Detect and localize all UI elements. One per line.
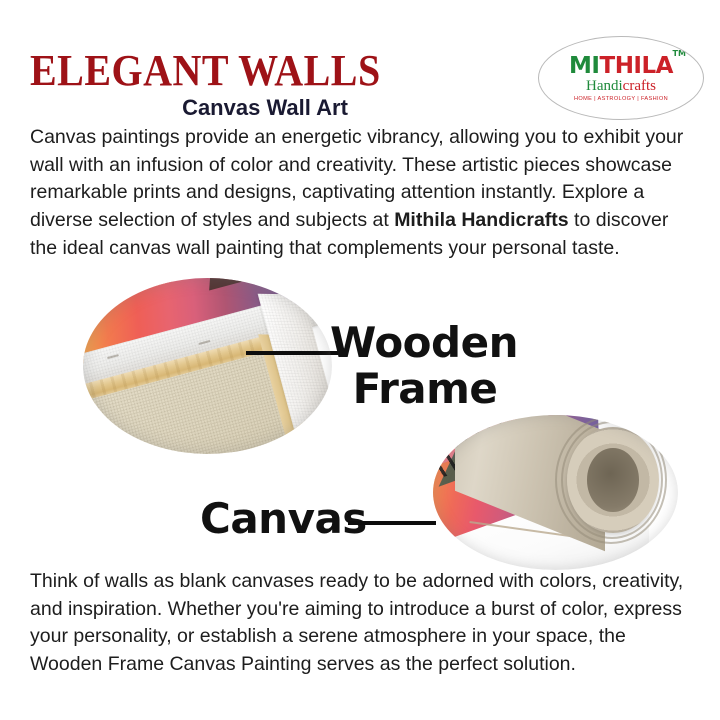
canvas-roll-photo xyxy=(433,415,678,570)
leader-line-canvas xyxy=(348,521,436,525)
wooden-frame-photo xyxy=(83,278,332,454)
logo-word-part-3: HILA xyxy=(615,53,673,79)
infographic-page: ELEGANT WALLS Canvas Wall Art MITHILA TM… xyxy=(0,0,720,720)
canvas-roll-layer xyxy=(555,416,667,544)
callout-wooden-frame: Wooden Frame xyxy=(330,322,520,410)
page-title: ELEGANT WALLS xyxy=(30,48,381,93)
brand-mention: Mithila Handicrafts xyxy=(394,209,568,231)
trademark-icon: TM xyxy=(673,50,686,58)
artwork-tree xyxy=(193,278,252,290)
staple-icon xyxy=(198,340,210,345)
logo-wordmark: MITHILA TM xyxy=(569,55,673,78)
leader-line-wooden-frame xyxy=(246,351,338,355)
closing-paragraph: Think of walls as blank canvases ready t… xyxy=(30,568,698,679)
intro-paragraph: Canvas paintings provide an energetic vi… xyxy=(30,124,698,262)
logo-sub-part-1: Handi xyxy=(586,78,623,94)
page-subtitle: Canvas Wall Art xyxy=(0,95,530,121)
callout-canvas: Canvas xyxy=(200,498,367,540)
mithila-handicrafts-logo: MITHILA TM Handicrafts HOME | ASTROLOGY … xyxy=(538,36,704,120)
logo-word-part-1: MI xyxy=(569,53,599,79)
callout-wooden-frame-line-1: Wooden xyxy=(330,322,520,364)
logo-subwordmark: Handicrafts xyxy=(586,79,656,94)
callout-wooden-frame-line-2: Frame xyxy=(330,368,520,410)
logo-tagline: HOME | ASTROLOGY | FASHION xyxy=(574,96,668,102)
logo-sub-part-2: crafts xyxy=(623,78,656,94)
staple-icon xyxy=(107,354,119,359)
logo-word-part-2: T xyxy=(599,53,614,79)
frame-illustration xyxy=(83,278,332,454)
